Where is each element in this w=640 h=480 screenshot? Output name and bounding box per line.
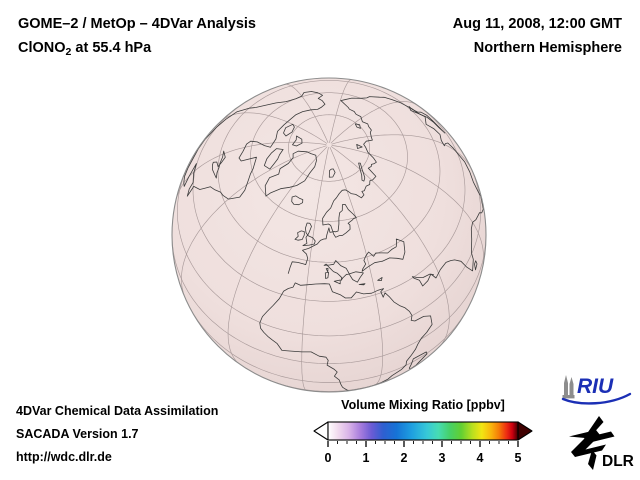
hemisphere-label: Northern Hemisphere (453, 36, 622, 60)
dlr-logo[interactable]: DLR (566, 414, 636, 472)
footer-line-version: SACADA Version 1.7 (16, 423, 218, 446)
colorbar-title: Volume Mixing Ratio [ppbv] (310, 398, 536, 412)
species-subscript: 2 (66, 46, 72, 58)
footer-line-assimilation: 4DVar Chemical Data Assimilation (16, 400, 218, 423)
colorbar-legend: Volume Mixing Ratio [ppbv] 012345 (310, 398, 536, 470)
species-subtitle: ClONO2 at 55.4 hPa (18, 36, 256, 61)
header: GOME–2 / MetOp – 4DVar Analysis ClONO2 a… (0, 0, 640, 72)
colorbar-cap-high (518, 422, 532, 440)
page-title: GOME–2 / MetOp – 4DVar Analysis (18, 12, 256, 36)
logo-group: RIU DLR (556, 372, 640, 474)
colorbar-tick-label: 5 (515, 451, 522, 465)
colorbar-cap-low (314, 422, 328, 440)
globe-map[interactable] (168, 74, 490, 396)
riu-logo[interactable]: RIU (558, 372, 634, 406)
colorbar-tick-label: 2 (401, 451, 408, 465)
timestamp-label: Aug 11, 2008, 12:00 GMT (453, 12, 622, 36)
colorbar-tick-label: 0 (325, 451, 332, 465)
species-name: ClONO (18, 40, 66, 56)
dlr-wordmark: DLR (602, 453, 634, 470)
colorbar-gradient (328, 422, 518, 440)
header-left: GOME–2 / MetOp – 4DVar Analysis ClONO2 a… (18, 12, 256, 61)
colorbar-ticks (328, 441, 518, 447)
footer-text: 4DVar Chemical Data Assimilation SACADA … (16, 400, 218, 469)
colorbar-svg[interactable]: 012345 (310, 417, 536, 465)
cologne-spires-icon (563, 375, 575, 398)
species-pressure: at 55.4 hPa (71, 40, 151, 56)
header-right: Aug 11, 2008, 12:00 GMT Northern Hemisph… (453, 12, 622, 60)
colorbar-tick-label: 1 (363, 451, 370, 465)
colorbar-tick-label: 3 (439, 451, 446, 465)
riu-wordmark: RIU (577, 375, 614, 398)
colorbar-tick-labels: 012345 (325, 451, 522, 465)
colorbar-tick-label: 4 (477, 451, 484, 465)
footer-line-url[interactable]: http://wdc.dlr.de (16, 446, 218, 469)
globe-svg (168, 74, 490, 396)
